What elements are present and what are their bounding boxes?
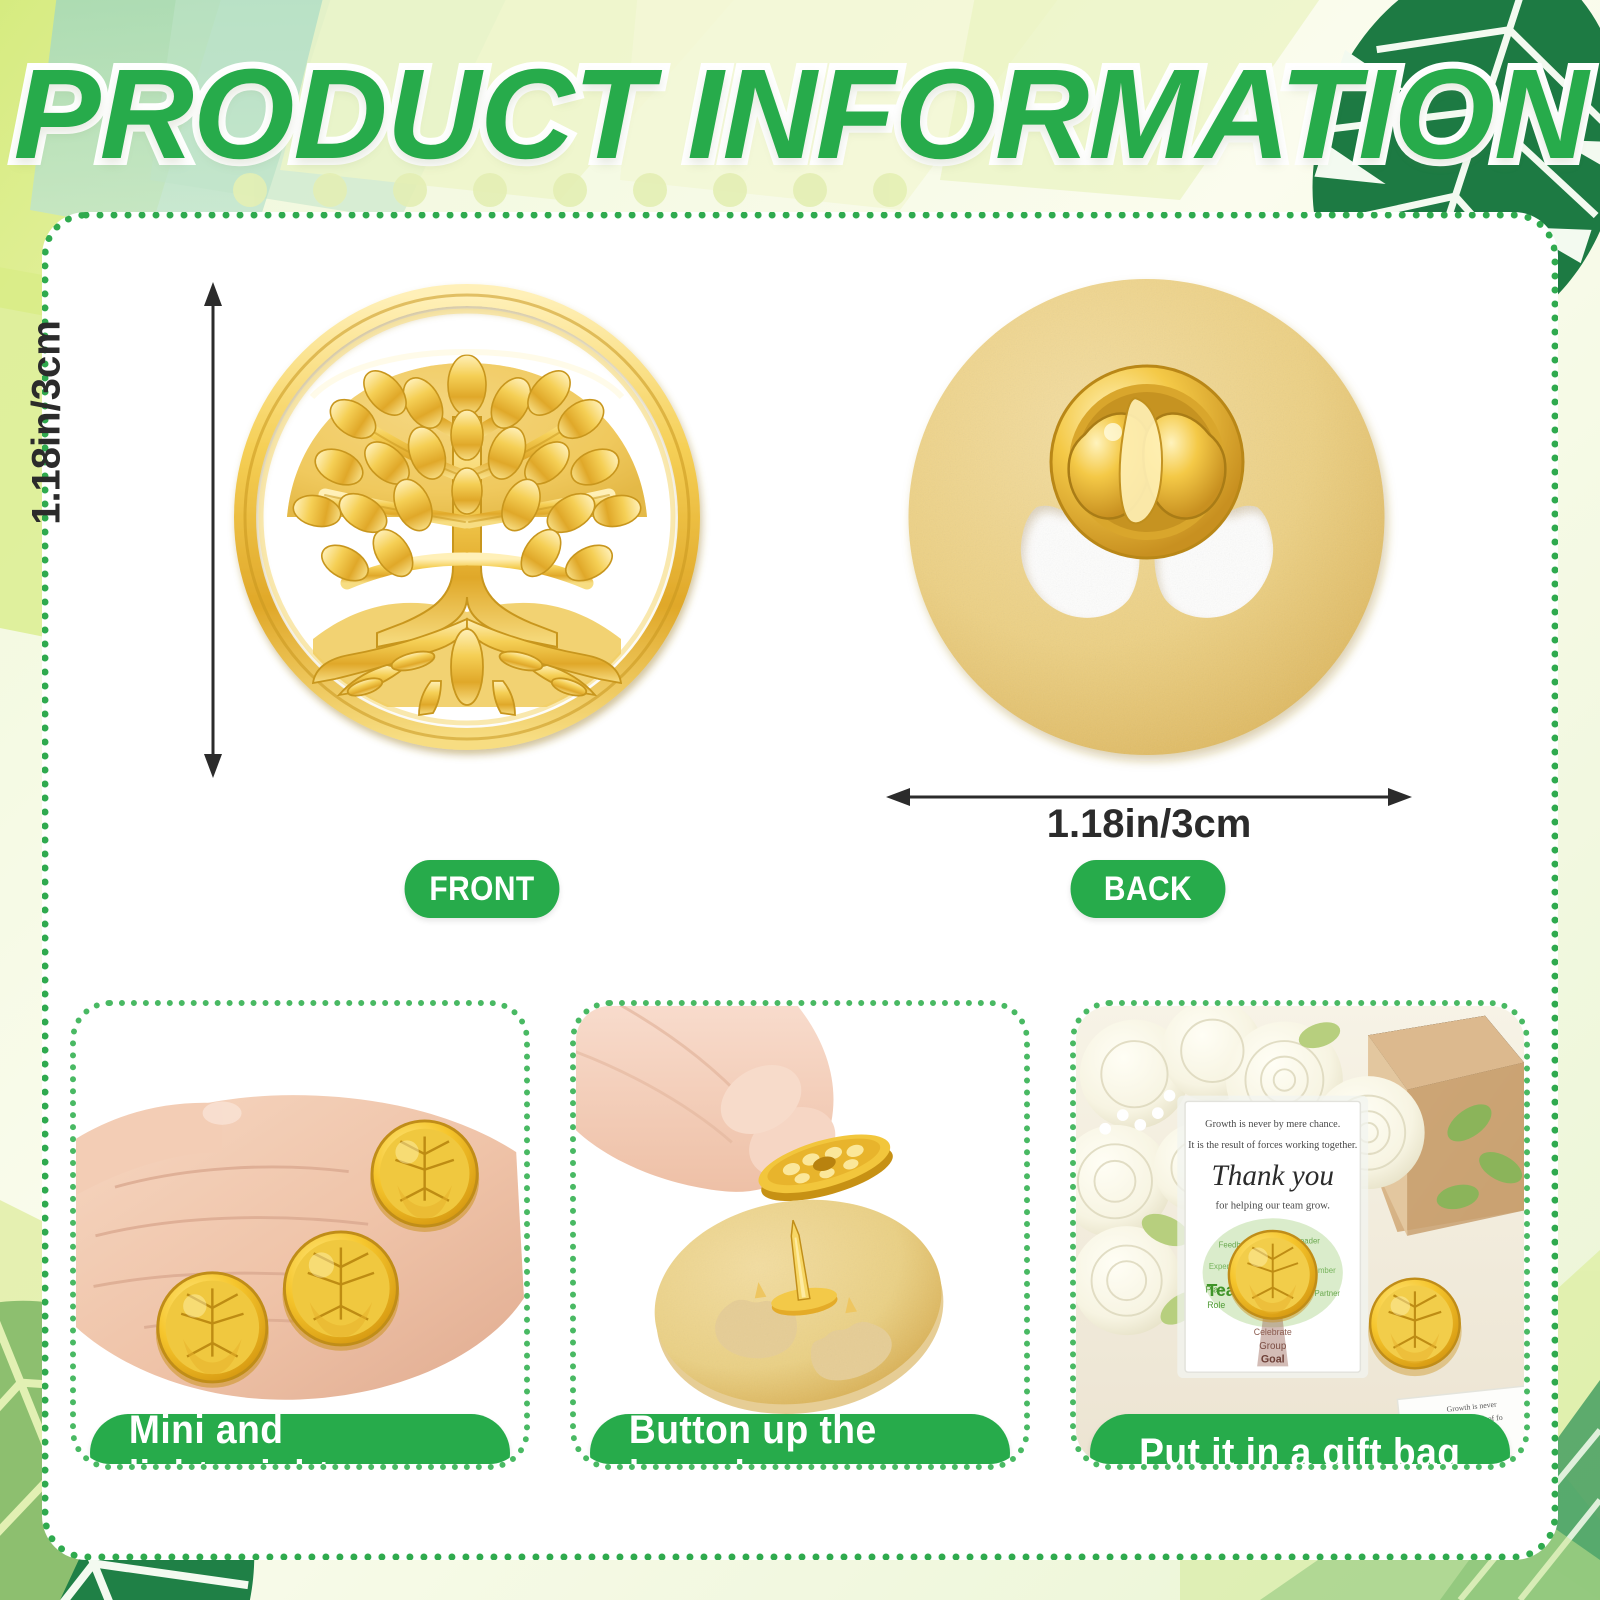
gift-card-line-3: for helping our team grow. [1216, 1200, 1330, 1212]
svg-text:Group: Group [1259, 1341, 1286, 1352]
product-overview-section: 1.18in/3cm [42, 212, 1558, 952]
badge-back: BACK [1071, 860, 1226, 918]
photo-clutch-and-pinback [576, 1006, 1024, 1464]
feature-caption-3: Put it in a gift bag [1090, 1414, 1510, 1470]
badge-front: FRONT [405, 860, 560, 918]
page-title-container: PRODUCT INFORMATION [0, 44, 1600, 184]
feature-caption-1: Mini and lightweight [90, 1414, 510, 1470]
feature-cards: Mini and lightweight [42, 1000, 1558, 1560]
gift-card-line-2: It is the result of forces working toget… [1188, 1140, 1357, 1151]
feature-caption-2: Button up the brooch [590, 1414, 1010, 1470]
gift-card-thanks: Thank you [1211, 1160, 1333, 1192]
feature-card-mini-lightweight: Mini and lightweight [70, 1000, 530, 1470]
gift-card-line-1: Growth is never by mere chance. [1205, 1119, 1340, 1130]
dimension-label-horizontal: 1.18in/3cm [884, 802, 1414, 847]
feature-card-button-up-brooch: Button up the brooch [570, 1000, 1030, 1470]
pin-front-image [217, 267, 717, 767]
pin-back-image [887, 257, 1407, 777]
photo-gift-bag-scene: Growth is never by mere chance. It is th… [1076, 1006, 1524, 1464]
dimension-label-vertical: 1.18in/3cm [25, 308, 70, 538]
photo-palm-with-pins [76, 1006, 524, 1464]
svg-text:Goal: Goal [1261, 1353, 1285, 1365]
svg-text:Role: Role [1207, 1300, 1225, 1310]
page-title: PRODUCT INFORMATION [13, 41, 1587, 188]
feature-card-gift-bag: Growth is never by mere chance. It is th… [1070, 1000, 1530, 1470]
svg-text:Celebrate: Celebrate [1254, 1327, 1292, 1337]
svg-text:Partner: Partner [1314, 1289, 1340, 1298]
